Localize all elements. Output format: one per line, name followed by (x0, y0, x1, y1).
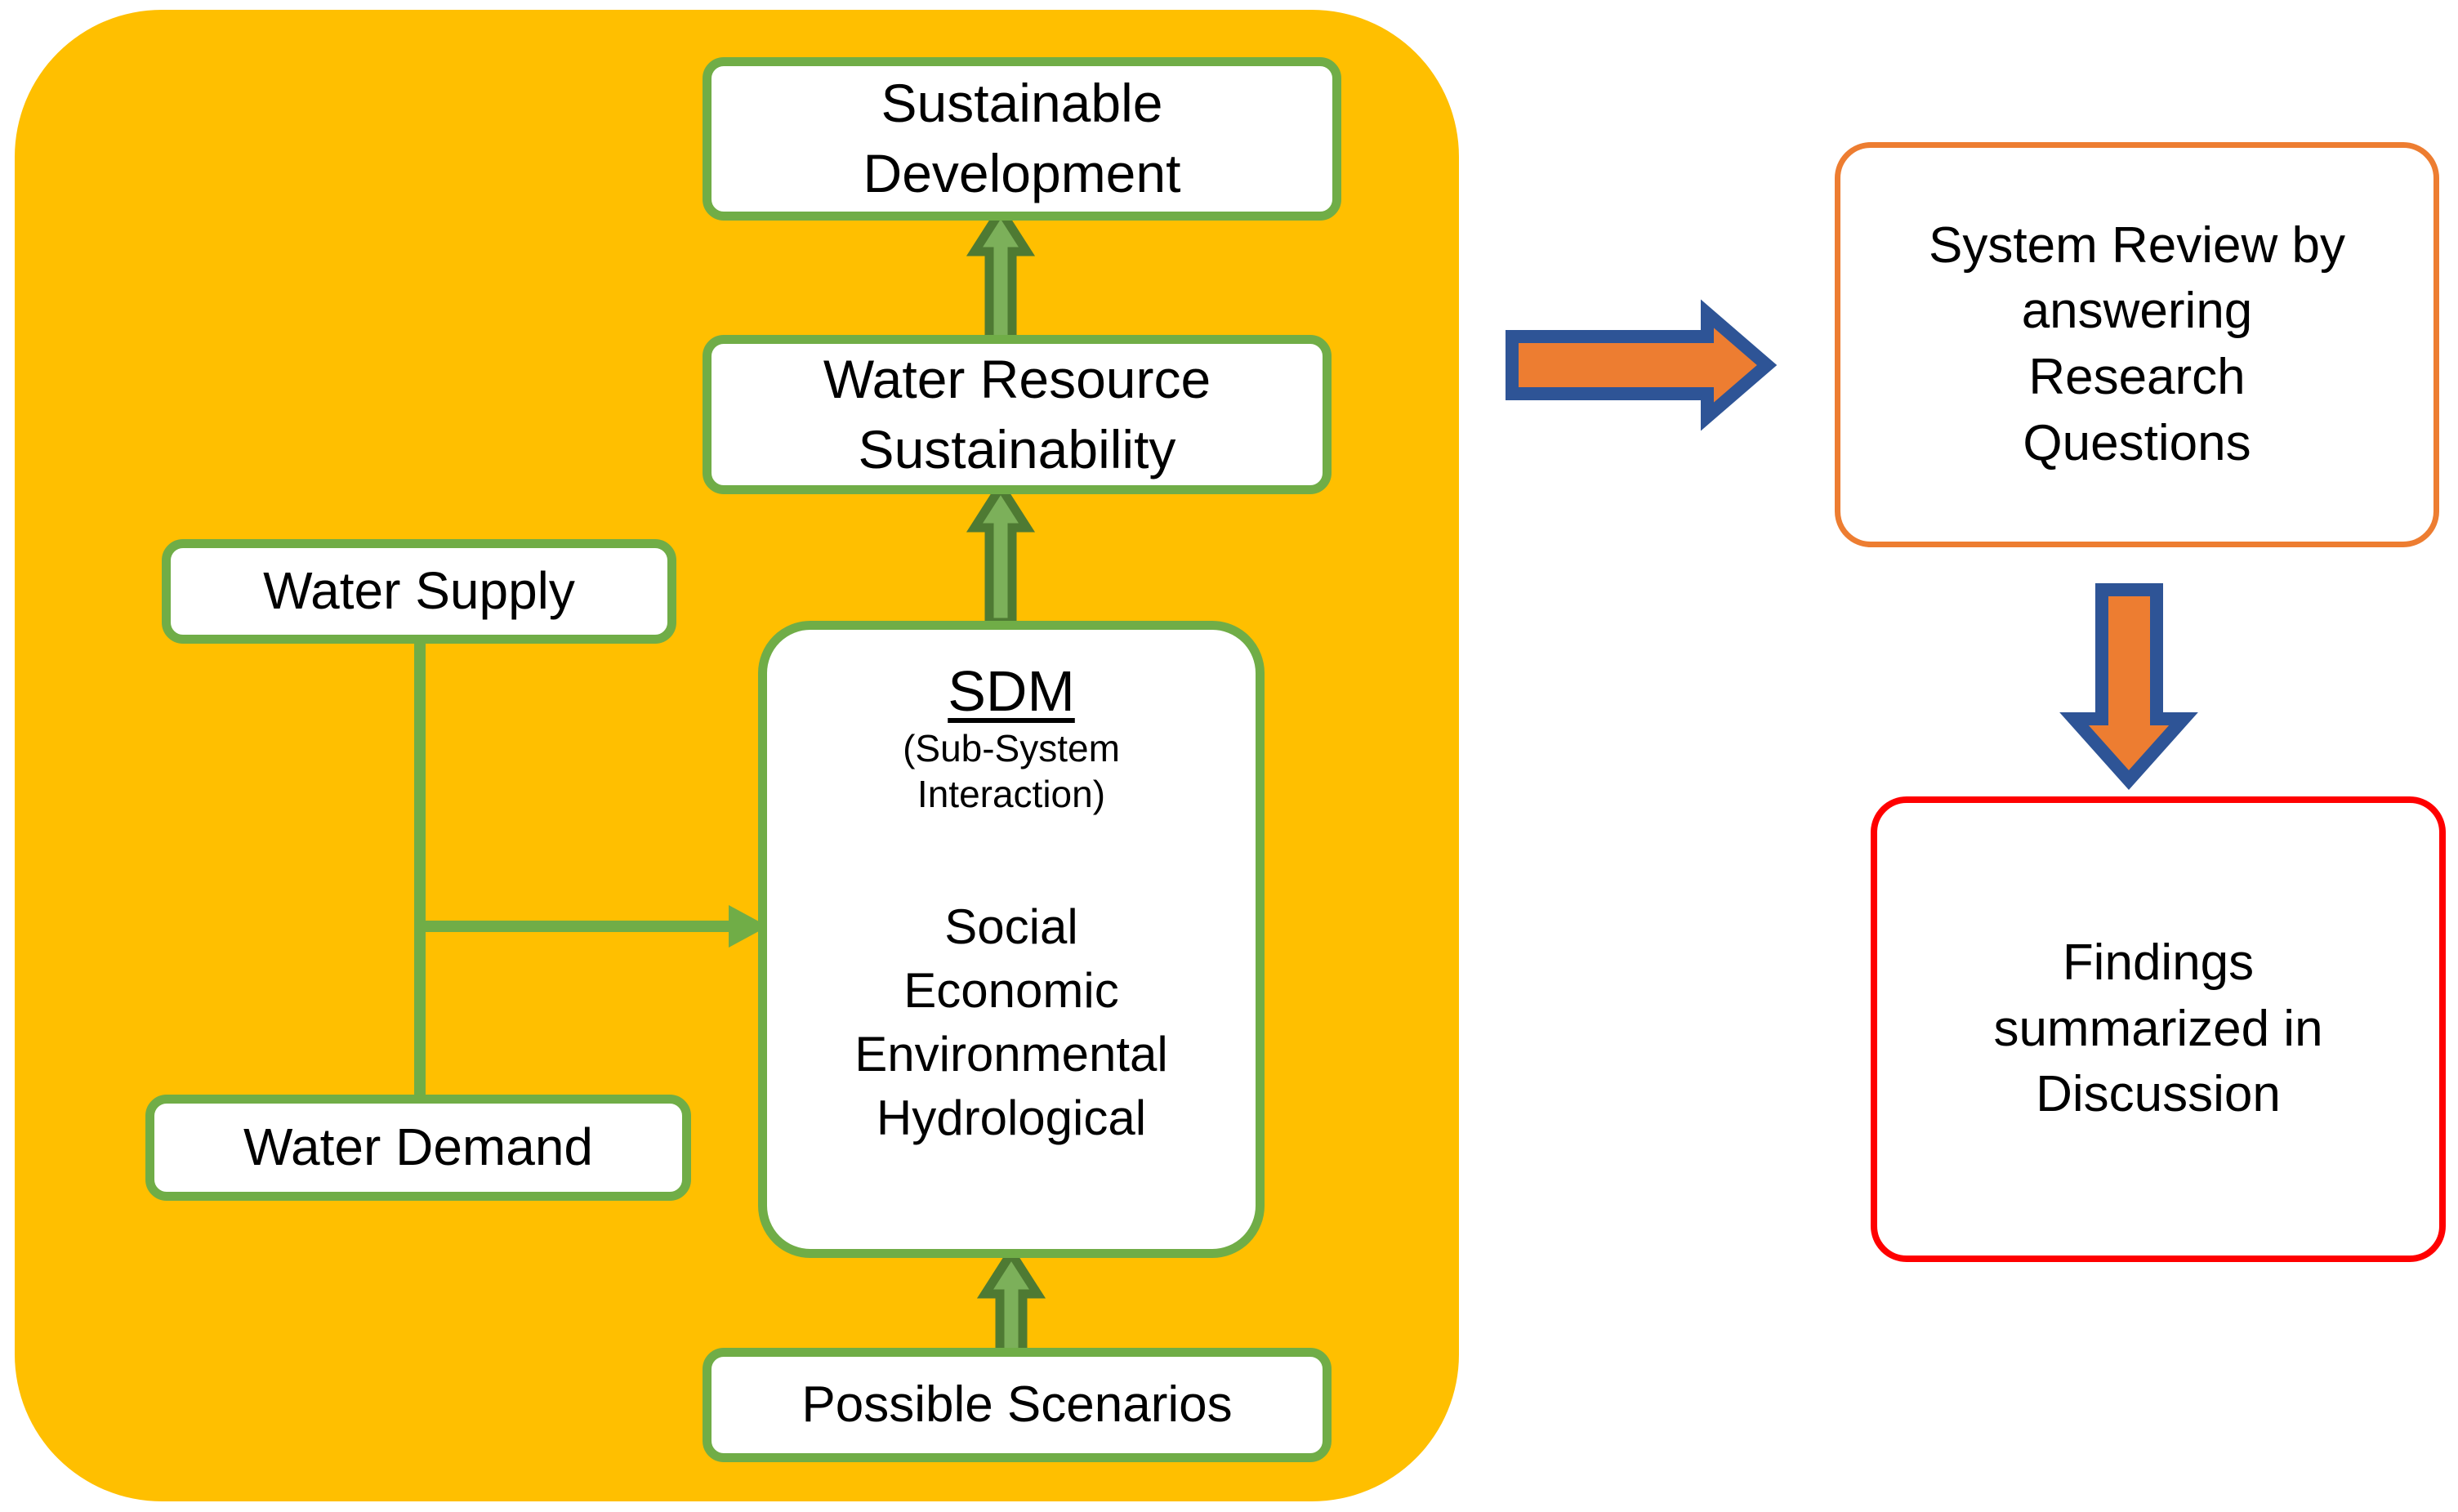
node-sdm-domain-hydrological: Hydrological (854, 1086, 1168, 1150)
node-system-review-line-1: System Review by (1929, 213, 2345, 279)
node-sdm-subtitle-line-1: (Sub-System (903, 726, 1120, 771)
node-sustainable-development[interactable]: Sustainable Development (703, 57, 1341, 221)
node-system-review-line-4: Questions (2023, 411, 2251, 477)
node-findings-line-1: Findings (2063, 930, 2254, 997)
node-sdm-domain-list: Social Economic Environmental Hydrologic… (854, 895, 1168, 1150)
connector-system-review-to-findings (2074, 590, 2184, 780)
node-sustainable-development-line-2: Development (863, 139, 1181, 209)
node-system-review-line-3: Research (2028, 345, 2245, 411)
node-sustainable-development-line-1: Sustainable (881, 69, 1163, 139)
node-sdm-domain-environmental: Environmental (854, 1023, 1168, 1086)
node-water-resource-sustainability-line-2: Sustainability (859, 415, 1176, 485)
node-water-demand[interactable]: Water Demand (145, 1095, 691, 1201)
node-sdm-title: SDM (948, 659, 1075, 723)
node-water-supply[interactable]: Water Supply (162, 539, 676, 644)
node-sdm-domain-economic: Economic (854, 959, 1168, 1023)
node-findings-line-3: Discussion (2036, 1062, 2281, 1128)
connector-panel-to-system-review (1512, 314, 1767, 417)
node-system-review[interactable]: System Review by answering Research Ques… (1835, 142, 2439, 547)
node-water-resource-sustainability[interactable]: Water Resource Sustainability (703, 335, 1332, 494)
node-water-demand-label: Water Demand (243, 1113, 593, 1181)
node-sdm-domain-social: Social (854, 895, 1168, 959)
node-system-review-line-2: answering (2022, 279, 2253, 345)
node-water-supply-label: Water Supply (263, 557, 575, 625)
diagram-canvas: Sustainable Development Water Resource S… (0, 0, 2458, 1512)
node-possible-scenarios[interactable]: Possible Scenarios (703, 1348, 1332, 1462)
node-findings[interactable]: Findings summarized in Discussion (1871, 796, 2446, 1262)
node-sdm-subtitle-line-2: Interaction) (903, 772, 1120, 817)
node-water-resource-sustainability-line-1: Water Resource (823, 345, 1211, 415)
node-sdm[interactable]: SDM (Sub-System Interaction) Social Econ… (758, 621, 1265, 1258)
node-findings-line-2: summarized in (1993, 997, 2322, 1063)
node-possible-scenarios-label: Possible Scenarios (801, 1372, 1232, 1438)
